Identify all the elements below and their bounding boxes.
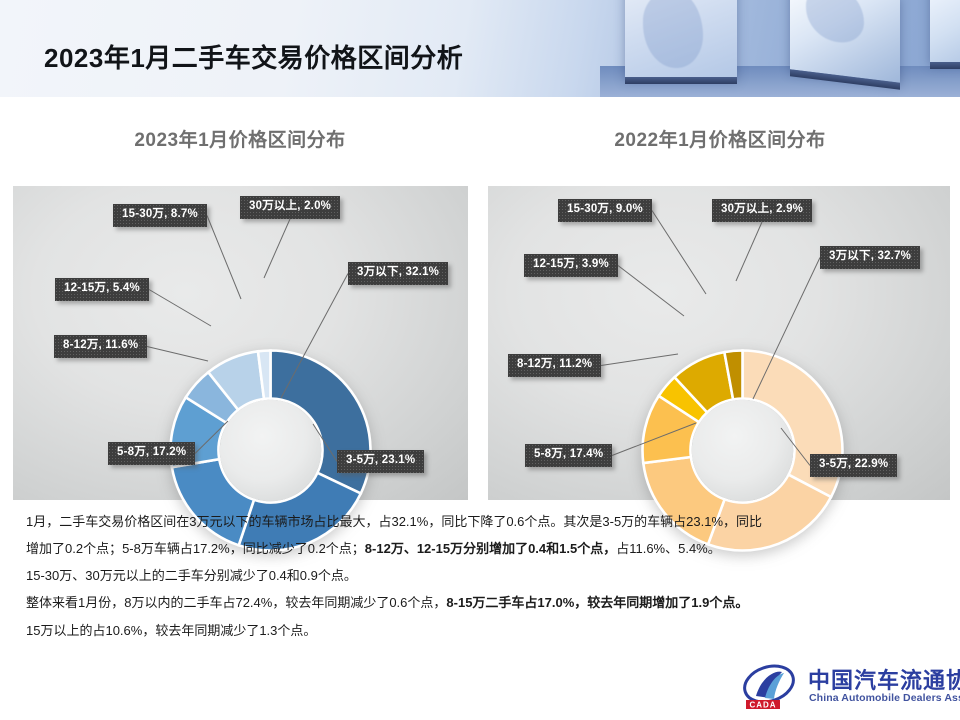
slice-label-text: 5-8万, 17.4% — [534, 448, 603, 460]
donut-hub — [220, 400, 321, 501]
slice-label-text: 8-12万, 11.6% — [63, 339, 138, 351]
note-text-emphasis: 8-15万二手车占17.0%，较去年同期增加了1.9个点。 — [446, 595, 748, 610]
slice-label-chip: 5-8万, 17.4% — [525, 444, 612, 467]
note-line-3: 15-30万、30万元以上的二手车分别减少了0.4和0.9个点。 — [0, 566, 960, 586]
svg-text:CADA: CADA — [749, 700, 776, 709]
note-line-4: 整体来看1月份，8万以内的二手车占72.4%，较去年同期减少了0.6个点，8-1… — [0, 593, 960, 613]
globe-shape-icon — [806, 0, 864, 45]
slice-label-text: 30万以上, 2.9% — [721, 203, 803, 215]
note-text: 占11.6%、5.4%。 — [616, 541, 721, 556]
slice-label-chip: 30万以上, 2.9% — [712, 199, 812, 222]
leader-line — [652, 211, 706, 295]
page-header: 2023年1月二手车交易价格区间分析 — [0, 0, 960, 97]
chart-title-2023: 2023年1月价格区间分布 — [0, 125, 480, 152]
note-line-5: 15万以上的占10.6%，较去年同期减少了1.3个点。 — [0, 621, 960, 641]
page-title: 2023年1月二手车交易价格区间分析 — [44, 38, 463, 75]
slice-label-chip: 5-8万, 17.2% — [108, 442, 195, 465]
leader-line — [736, 222, 762, 281]
chart-title-2022: 2022年1月价格区间分布 — [480, 125, 960, 152]
slice-label-text: 12-15万, 3.9% — [533, 258, 609, 270]
slice-label-text: 3万以下, 32.7% — [829, 250, 911, 262]
note-line-2: 增加了0.2个点；5-8万车辆占17.2%，同比减少了0.2个点；8-12万、1… — [0, 539, 960, 559]
slice-label-chip: 3-5万, 22.9% — [810, 454, 897, 477]
note-text: 增加了0.2个点；5-8万车辆占17.2%，同比减少了0.2个点； — [26, 541, 365, 556]
slice-label-chip: 3-5万, 23.1% — [337, 450, 424, 473]
leader-line — [207, 216, 241, 300]
slice-label-chip: 15-30万, 8.7% — [113, 204, 207, 227]
slice-label-chip: 8-12万, 11.2% — [508, 354, 601, 377]
slice-label-chip: 12-15万, 5.4% — [55, 278, 149, 301]
leader-line — [149, 290, 211, 327]
header-cube-decoration-1 — [625, 0, 737, 77]
slice-label-text: 8-12万, 11.2% — [517, 358, 592, 370]
header-cube-decoration-3 — [930, 0, 960, 62]
slice-label-chip: 15-30万, 9.0% — [558, 199, 652, 222]
slice-label-text: 30万以上, 2.0% — [249, 200, 331, 212]
slice-label-chip: 30万以上, 2.0% — [240, 196, 340, 219]
logo-name-en: China Automobile Dealers Association — [809, 692, 960, 704]
slice-label-chip: 3万以下, 32.7% — [820, 246, 920, 269]
note-text: 1月，二手车交易价格区间在3万元以下的车辆市场占比最大，占32.1%，同比下降了… — [26, 514, 762, 529]
note-text: 15-30万、30万元以上的二手车分别减少了0.4和0.9个点。 — [26, 568, 357, 583]
logo-name-cn: 中国汽车流通协会 — [808, 663, 960, 695]
slice-label-text: 15-30万, 9.0% — [567, 203, 643, 215]
note-text: 15万以上的占10.6%，较去年同期减少了1.3个点。 — [26, 623, 316, 638]
globe-shape-icon — [643, 0, 703, 68]
leader-line — [618, 266, 684, 317]
note-line-1: 1月，二手车交易价格区间在3万元以下的车辆市场占比最大，占32.1%，同比下降了… — [0, 512, 960, 532]
slice-label-text: 15-30万, 8.7% — [122, 208, 198, 220]
leader-line — [264, 219, 290, 278]
note-text: 整体来看1月份，8万以内的二手车占72.4%，较去年同期减少了0.6个点， — [26, 595, 446, 610]
donut-hub — [692, 400, 793, 501]
analysis-notes: 1月，二手车交易价格区间在3万元以下的车辆市场占比最大，占32.1%，同比下降了… — [0, 512, 960, 648]
cada-logo-icon: CADA — [742, 664, 802, 712]
slice-label-text: 3万以下, 32.1% — [357, 266, 439, 278]
note-text-emphasis: 8-12万、12-15万分别增加了0.4和1.5个点， — [365, 541, 616, 556]
slice-label-text: 12-15万, 5.4% — [64, 282, 140, 294]
slice-label-chip: 8-12万, 11.6% — [54, 335, 147, 358]
chart-panel-2022: 3万以下, 32.7%3-5万, 22.9%5-8万, 17.4%8-12万, … — [488, 186, 950, 500]
slice-label-text: 5-8万, 17.2% — [117, 446, 186, 458]
organization-logo: CADA 中国汽车流通协会 China Automobile Dealers A… — [742, 660, 957, 716]
chart-panel-2023: 3万以下, 32.1%3-5万, 23.1%5-8万, 17.2%8-12万, … — [13, 186, 468, 500]
slice-label-text: 3-5万, 23.1% — [346, 454, 415, 466]
slice-label-chip: 3万以下, 32.1% — [348, 262, 448, 285]
header-cube-decoration-2 — [790, 0, 900, 83]
slice-label-chip: 12-15万, 3.9% — [524, 254, 618, 277]
slice-label-text: 3-5万, 22.9% — [819, 458, 888, 470]
